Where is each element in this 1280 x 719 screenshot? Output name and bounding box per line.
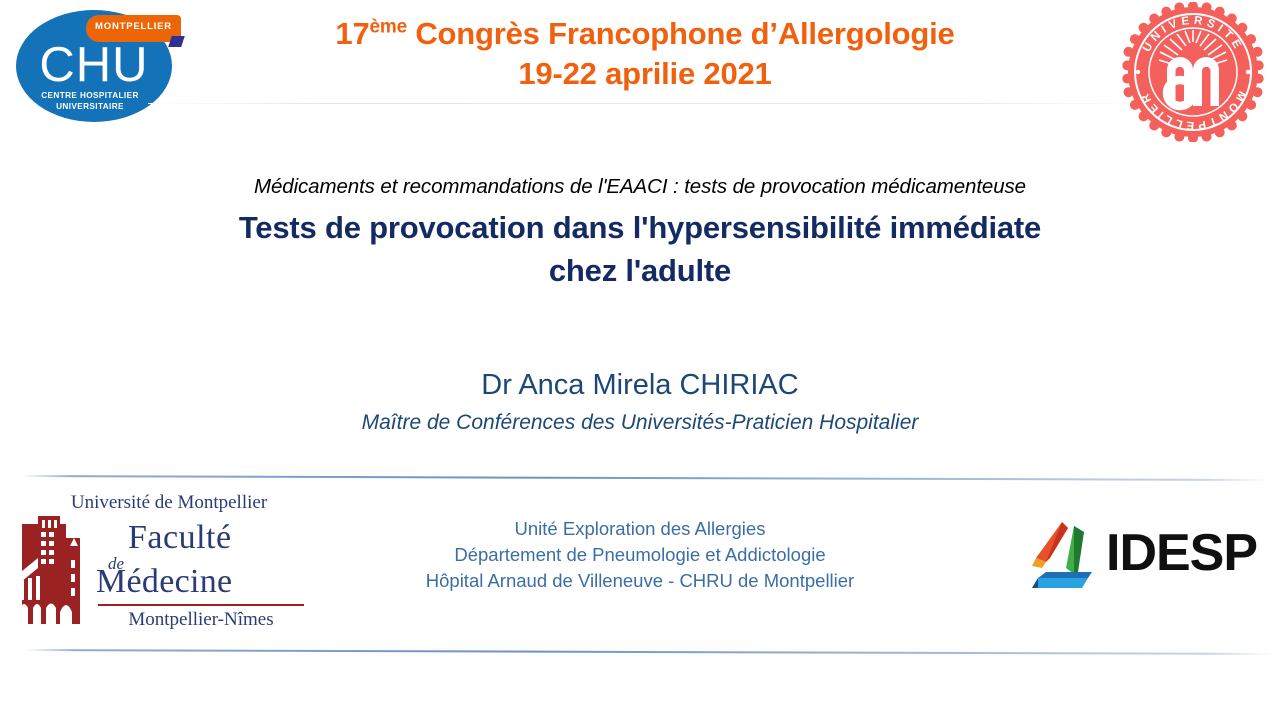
faculte-logo-rule xyxy=(98,604,304,606)
chu-logo-acronym: CHU xyxy=(30,40,158,90)
congress-ordinal-suffix: ème xyxy=(370,17,407,38)
slide-main-title-line2: chez l'adulte xyxy=(90,249,1190,292)
header-divider xyxy=(148,103,1148,104)
chu-montpellier-logo: MONTPELLIER CHU CENTRE HOSPITALIER UNIVE… xyxy=(8,2,188,130)
chu-logo-ribbon-fold xyxy=(168,36,185,47)
slide-main-title-line1: Tests de provocation dans l'hypersensibi… xyxy=(90,206,1190,249)
congress-number: 17 xyxy=(335,16,369,51)
faculte-word-medecine-text: Médecine xyxy=(96,563,232,600)
congress-header-title: 17ème Congrès Francophone d’Allergologie… xyxy=(200,14,1090,94)
footer-top-divider xyxy=(22,475,1268,481)
faculte-medecine-logo: Université de Montpellier xyxy=(16,492,306,640)
faculte-logo-location: Montpellier-Nîmes xyxy=(98,608,304,632)
slide-header: MONTPELLIER CHU CENTRE HOSPITALIER UNIVE… xyxy=(0,0,1280,110)
chu-logo-subtitle: CENTRE HOSPITALIER UNIVERSITAIRE xyxy=(20,90,160,112)
faculte-word-faculte: Faculté xyxy=(128,520,306,556)
idesp-logo: IDESP xyxy=(1028,518,1260,592)
chu-logo-ribbon-label: MONTPELLIER xyxy=(86,21,181,32)
slide-footer: Université de Montpellier xyxy=(0,482,1280,650)
um-seal-graphic: UNIVERSITÉ MONTPELLIER xyxy=(1118,2,1268,142)
faculte-word-faculte-text: Faculté xyxy=(128,519,232,556)
slide-main-title: Tests de provocation dans l'hypersensibi… xyxy=(90,206,1190,292)
chu-logo-subtitle-line1: CENTRE HOSPITALIER xyxy=(20,90,160,101)
slide-subtitle: Médicaments et recommandations de l'EAAC… xyxy=(90,172,1190,202)
congress-dates: 19-22 aprilie 2021 xyxy=(200,54,1090,94)
affiliation-line-2: Département de Pneumologie et Addictolog… xyxy=(330,542,950,568)
author-role: Maître de Conférences des Universités-Pr… xyxy=(90,408,1190,438)
congress-title-line: 17ème Congrès Francophone d’Allergologie xyxy=(200,14,1090,54)
author-block: Dr Anca Mirela CHIRIAC Maître de Confére… xyxy=(90,366,1190,438)
congress-title-text: Congrès Francophone d’Allergologie xyxy=(407,16,955,51)
affiliation-line-3: Hôpital Arnaud de Villeneuve - CHRU de M… xyxy=(330,568,950,594)
affiliation-block: Unité Exploration des Allergies Départem… xyxy=(330,516,950,594)
idesp-triangle-icon xyxy=(1028,518,1102,590)
chu-logo-subtitle-line2: UNIVERSITAIRE xyxy=(20,101,160,112)
faculte-word-medecine: Médecine xyxy=(96,564,306,600)
presentation-slide: MONTPELLIER CHU CENTRE HOSPITALIER UNIVE… xyxy=(0,0,1280,719)
idesp-wordmark: IDESP xyxy=(1106,524,1257,582)
slide-title-block: Médicaments et recommandations de l'EAAC… xyxy=(90,172,1190,292)
universite-montpellier-seal: UNIVERSITÉ MONTPELLIER xyxy=(1118,2,1268,142)
affiliation-line-1: Unité Exploration des Allergies xyxy=(330,516,950,542)
faculte-logo-university-line: Université de Montpellier xyxy=(32,492,306,514)
author-name: Dr Anca Mirela CHIRIAC xyxy=(90,366,1190,404)
